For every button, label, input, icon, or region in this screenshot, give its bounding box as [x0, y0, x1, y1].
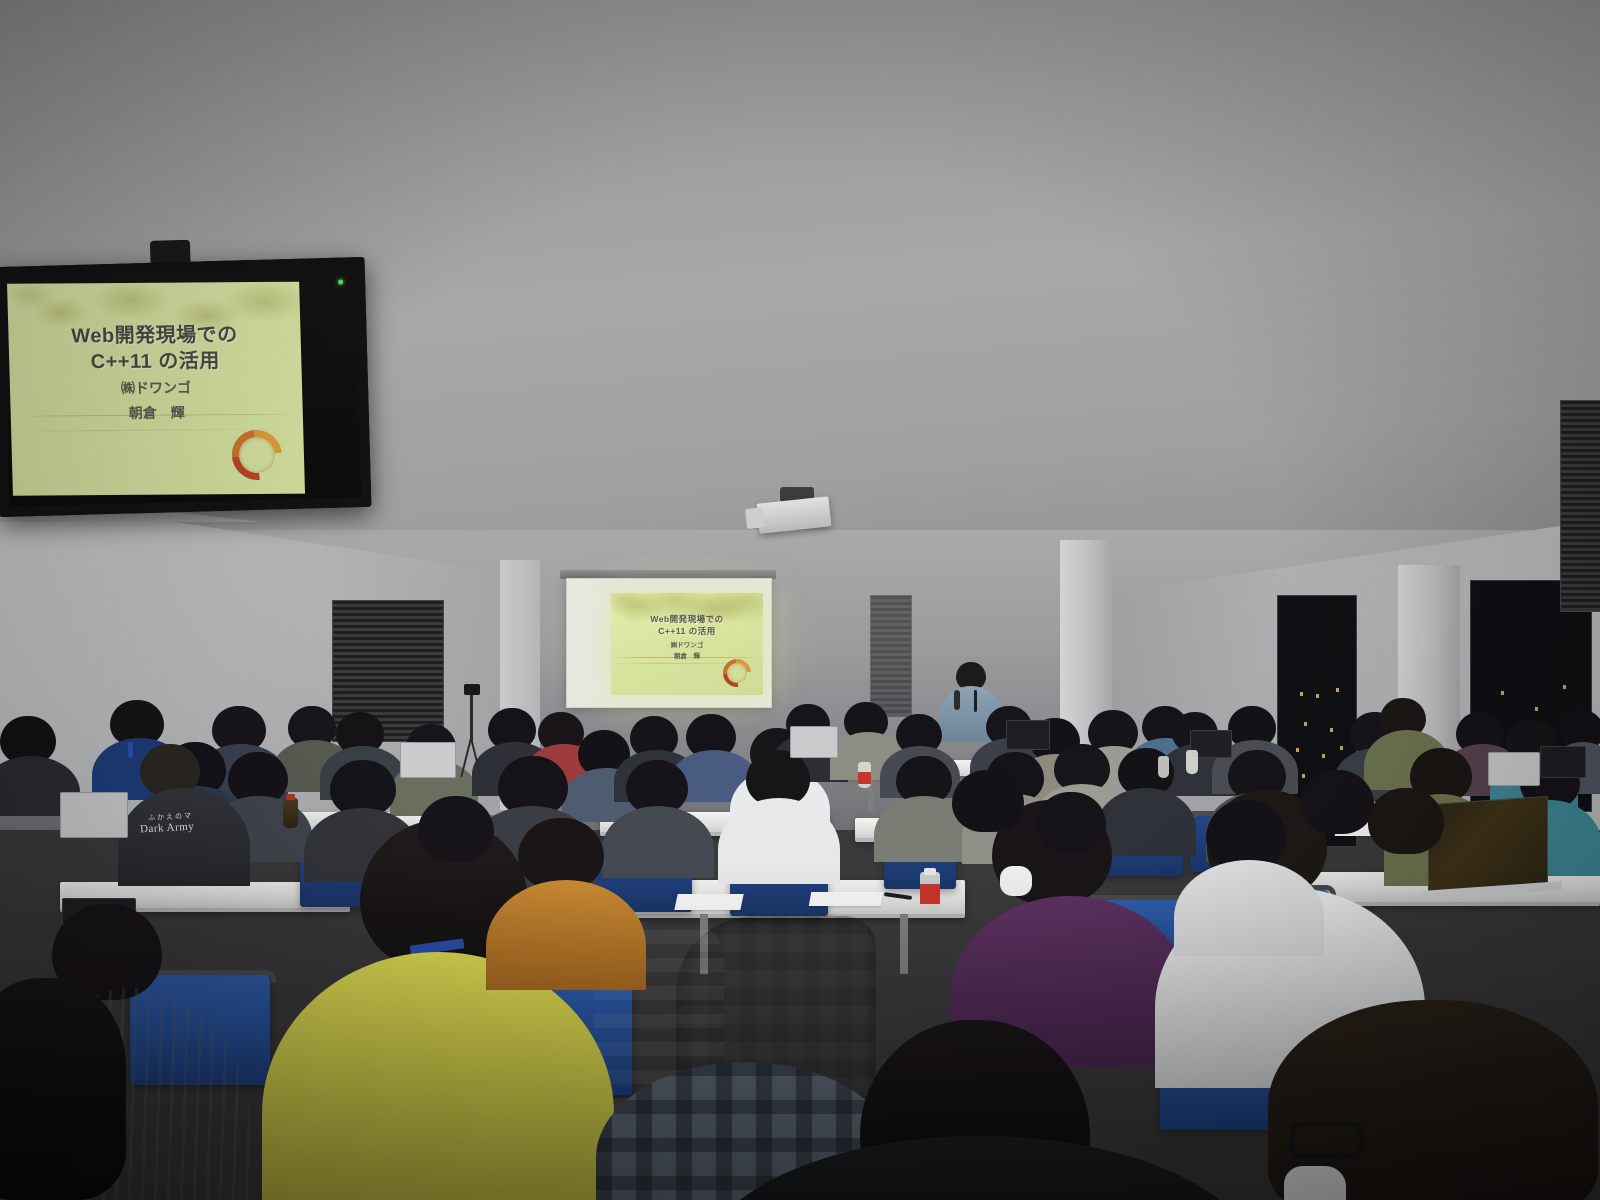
face-mask-icon	[1000, 866, 1032, 896]
laptop-lid	[1006, 720, 1050, 750]
bottle-cap	[924, 868, 936, 875]
audience-head	[418, 796, 494, 862]
drink-bottle	[1186, 750, 1198, 774]
microphone-icon	[954, 690, 960, 710]
conference-room-photo: Web開発現場での C++11 の活用 ㈱ドワンゴ 朝倉 輝 Web開発現場での…	[0, 0, 1600, 1200]
slide-company: ㈱ドワンゴ	[10, 377, 303, 399]
window-blinds-far-right	[1560, 400, 1600, 612]
audience-head	[1368, 788, 1444, 854]
laptop-screen-terminal	[1428, 796, 1548, 892]
notebook	[674, 894, 743, 910]
audience-head	[1036, 792, 1106, 852]
tripod-pole	[470, 695, 473, 741]
projection-screen: Web開発現場での C++11 の活用 ㈱ドワンゴ 朝倉 輝	[566, 578, 772, 708]
lanyard	[128, 742, 133, 758]
bottle-cap	[286, 794, 295, 800]
camera-icon	[464, 684, 480, 695]
lanyard	[974, 690, 977, 712]
laptop-lid	[790, 726, 838, 758]
slide-title-line2: C++11 の活用	[611, 625, 763, 637]
slide-title-line1: Web開発現場での	[611, 613, 763, 625]
wall-mounted-tv: Web開発現場での C++11 の活用 ㈱ドワンゴ 朝倉 輝	[0, 257, 371, 517]
projected-slide: Web開発現場での C++11 の活用 ㈱ドワンゴ 朝倉 輝	[611, 593, 763, 695]
drink-bottle-dark	[283, 798, 298, 828]
slide-company: ㈱ドワンゴ	[611, 639, 763, 649]
slide-title-line2: C++11 の活用	[9, 344, 302, 375]
tv-power-led-icon	[338, 279, 343, 284]
window-blinds-center	[870, 595, 912, 717]
bottle-label	[920, 884, 940, 904]
laptop-lid	[1488, 752, 1540, 786]
glasses-icon	[1290, 1122, 1364, 1158]
audience-head-foreground	[0, 978, 126, 1200]
notebook	[809, 892, 883, 906]
audience-head	[1300, 770, 1374, 834]
audience-head	[952, 770, 1024, 832]
slide-presenter: 朝倉 輝	[10, 402, 303, 424]
face-mask-icon	[1284, 1166, 1346, 1200]
laptop-lid	[400, 742, 456, 778]
laptop-lid	[1540, 746, 1586, 778]
laptop-lid	[60, 792, 128, 838]
tv-screen: Web開発現場での C++11 の活用 ㈱ドワンゴ 朝倉 輝	[7, 282, 305, 496]
drink-bottle	[1158, 756, 1169, 778]
bottle-label	[858, 772, 871, 784]
table-leg	[900, 914, 908, 974]
